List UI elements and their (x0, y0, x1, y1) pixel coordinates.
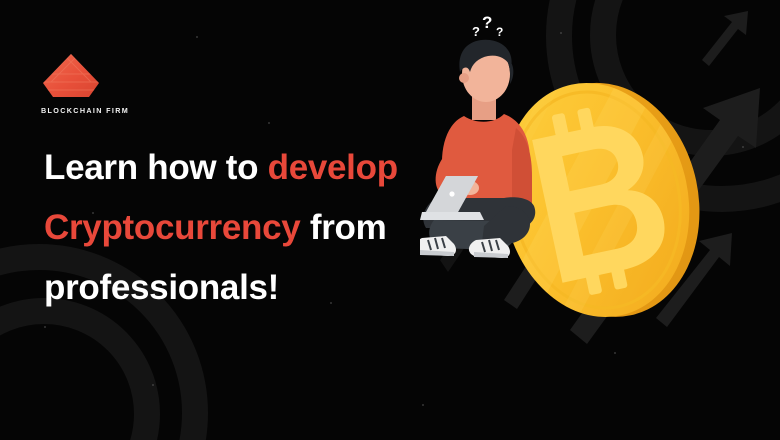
headline-line1-plain: Learn how to (44, 148, 268, 187)
crypto-promo-banner: ? ? ? (0, 0, 780, 440)
hero-illustration: ? ? ? (420, 0, 780, 440)
headline-line2-plain: from (300, 208, 386, 247)
svg-text:?: ? (472, 24, 480, 39)
svg-text:?: ? (482, 13, 492, 32)
thinking-question-marks: ? ? ? (472, 13, 503, 39)
svg-text:?: ? (496, 25, 503, 39)
headline-line3-plain: professionals! (44, 268, 279, 307)
headline-line-1: Learn how to develop (44, 138, 464, 198)
headline-line-2: Cryptocurrency from (44, 198, 464, 258)
headline-line1-accent: develop (268, 148, 398, 187)
brand-logo[interactable]: BLOCKCHAIN FIRM (41, 52, 161, 115)
headline-line-3: professionals! (44, 258, 464, 318)
corner-ring-bottom-left-inner (0, 298, 160, 440)
page-title: Learn how to develop Cryptocurrency from… (44, 138, 464, 318)
brand-wordmark: BLOCKCHAIN FIRM (41, 106, 161, 115)
blockchain-firm-diamond-icon (41, 52, 101, 100)
headline-line2-accent: Cryptocurrency (44, 208, 300, 247)
